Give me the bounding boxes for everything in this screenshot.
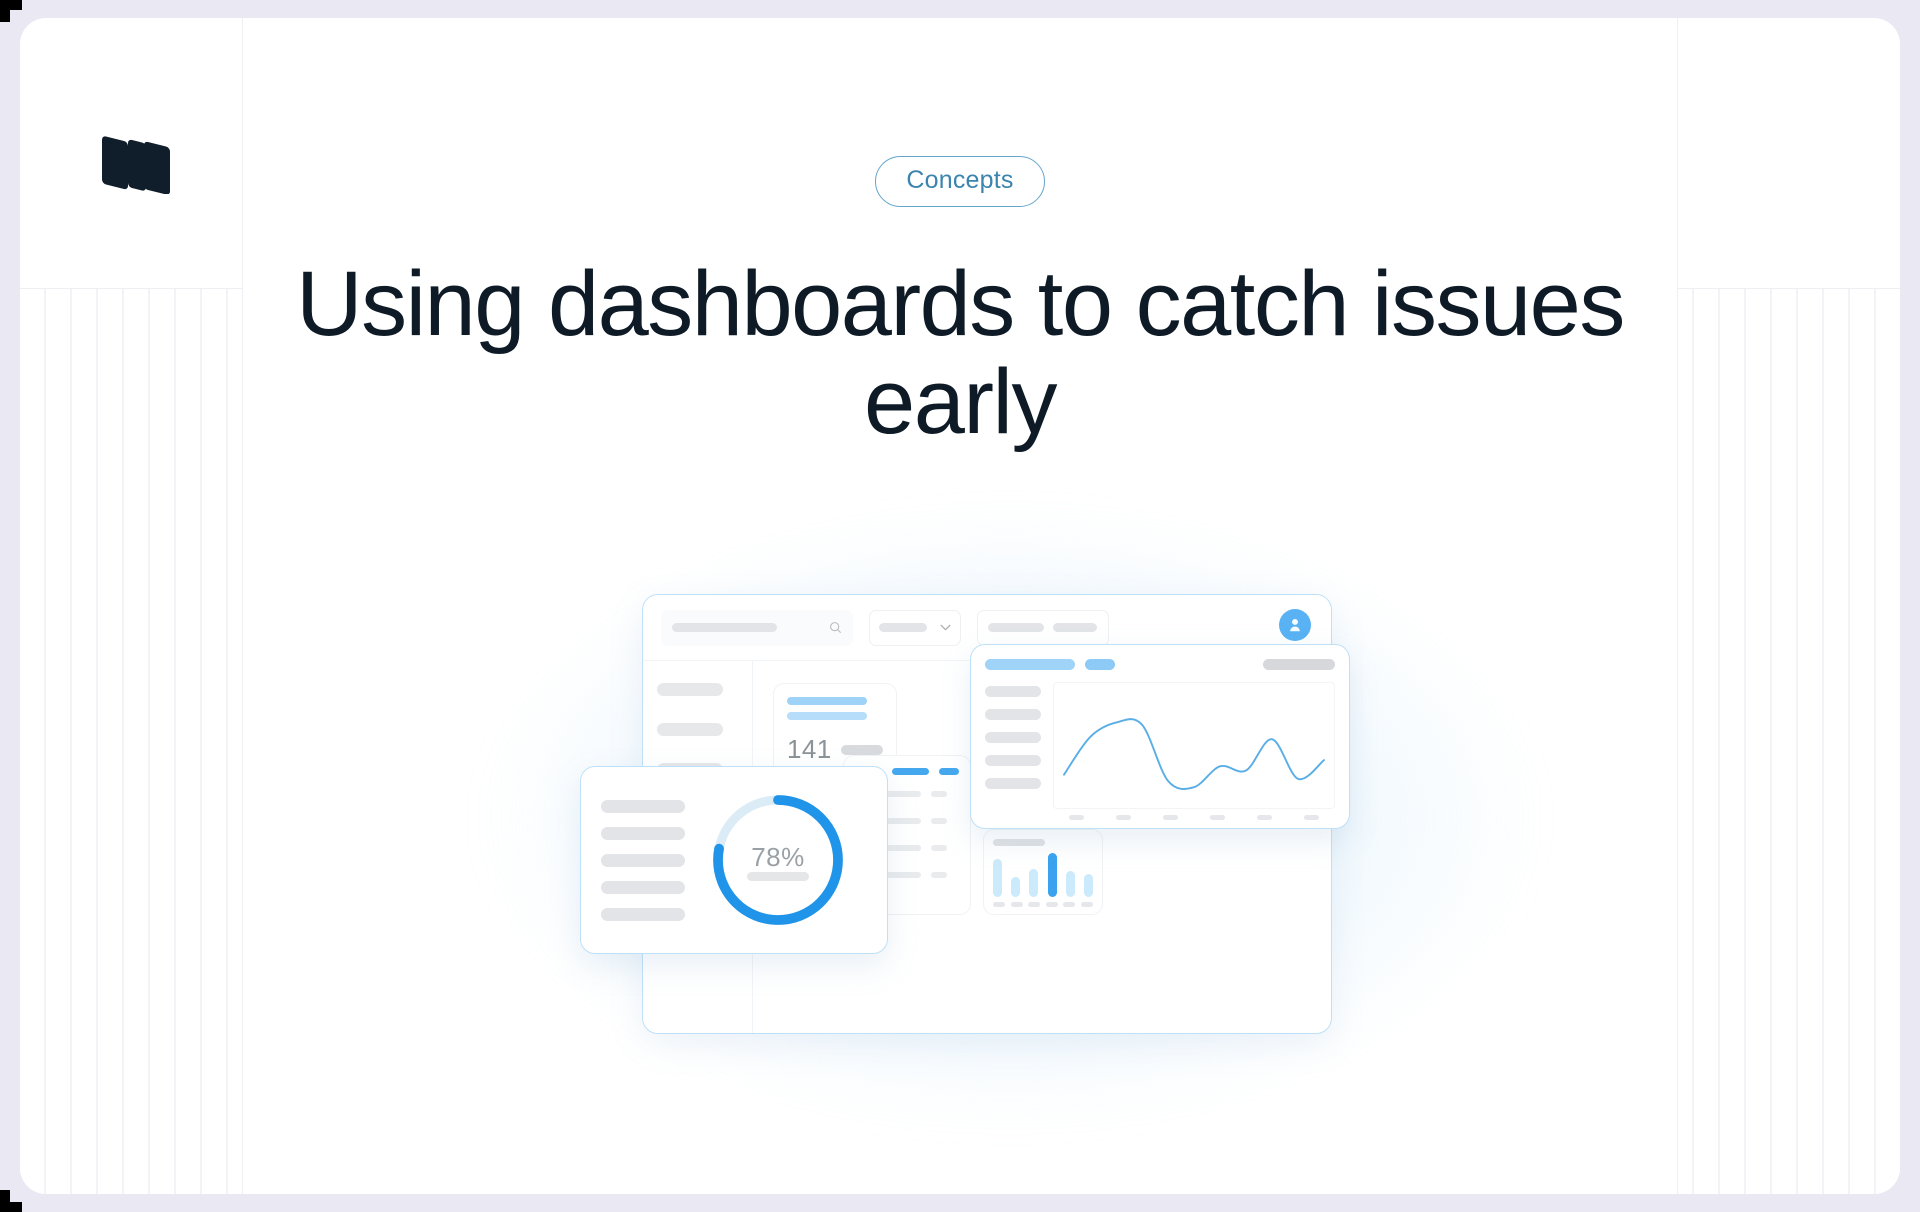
legend-row (601, 827, 685, 840)
legend-row (601, 854, 685, 867)
bar-axis-label (1063, 902, 1075, 907)
stripe-texture-right (1678, 288, 1900, 1194)
chevron-down-icon (940, 624, 951, 631)
bar (1066, 871, 1075, 897)
page-canvas: Concepts Using dashboards to catch issue… (20, 18, 1900, 1194)
bar-column (1066, 853, 1075, 897)
dropdown-value (879, 623, 927, 632)
bar-axis-label (993, 902, 1005, 907)
bar-chart-axis-labels (993, 902, 1093, 907)
bar-axis-label (1046, 902, 1058, 907)
bar-axis-label (1028, 902, 1040, 907)
line-chart-header (985, 659, 1335, 670)
bar (1084, 874, 1093, 897)
line-chart-svg (1054, 683, 1334, 808)
crop-mark-top-left-vertical (0, 0, 10, 22)
donut-center-caption (747, 872, 809, 881)
bar (993, 859, 1002, 897)
table-column-header (939, 768, 959, 775)
user-avatar-icon[interactable] (1279, 609, 1311, 641)
stripe-texture-left (20, 288, 242, 1194)
table-column-header (892, 768, 930, 775)
x-axis-tick (1069, 815, 1084, 820)
bar (1048, 853, 1057, 897)
table-cell (931, 818, 947, 824)
bar-chart-panel (983, 829, 1103, 915)
bar-column (1011, 853, 1020, 897)
bar-chart-title (993, 839, 1045, 846)
stat-label-bar (787, 697, 867, 705)
table-cell (931, 872, 947, 878)
chart-tab[interactable] (1085, 659, 1115, 670)
chart-tab-active[interactable] (985, 659, 1075, 670)
donut-legend (601, 800, 685, 921)
tag-chip (1053, 623, 1097, 632)
bar-axis-label (1081, 902, 1093, 907)
bar-axis-label (1011, 902, 1023, 907)
dashboard-illustration: 141 203 (580, 538, 1440, 1098)
donut-chart-card: 78% (580, 766, 888, 954)
tag-chip (988, 623, 1044, 632)
donut-center-value: 78% (703, 842, 853, 873)
bar-chart-plot (993, 853, 1093, 897)
donut-chart: 78% (703, 785, 853, 935)
stat-trend-chip (841, 745, 883, 755)
stat-value: 141 (787, 734, 832, 765)
page-header: Concepts Using dashboards to catch issue… (242, 18, 1678, 452)
x-axis-tick (1210, 815, 1225, 820)
legend-row (985, 755, 1041, 766)
line-chart-x-axis (985, 815, 1335, 820)
legend-row (985, 686, 1041, 697)
legend-row (601, 908, 685, 921)
bar-column (1048, 853, 1057, 897)
bar (1029, 869, 1038, 897)
table-cell (931, 791, 947, 797)
legend-row (601, 800, 685, 813)
category-badge[interactable]: Concepts (875, 156, 1044, 207)
chart-action-bar[interactable] (1263, 659, 1335, 670)
sidebar-item[interactable] (657, 683, 723, 696)
sidebar-item[interactable] (657, 723, 723, 736)
line-chart-card (970, 644, 1350, 829)
bar-column (1029, 853, 1038, 897)
x-axis-tick (1304, 815, 1319, 820)
legend-row (601, 881, 685, 894)
legend-row (985, 778, 1041, 789)
stat-sublabel-bar (787, 712, 867, 720)
x-axis-tick (1116, 815, 1131, 820)
bar-column (993, 853, 1002, 897)
search-input[interactable] (661, 610, 853, 646)
search-icon (829, 621, 842, 634)
table-cell (931, 845, 947, 851)
line-chart-legend (985, 682, 1041, 809)
bar-column (1084, 853, 1093, 897)
line-chart-plot (1053, 682, 1335, 809)
brand-logo-icon[interactable] (88, 130, 188, 194)
legend-row (985, 732, 1041, 743)
search-placeholder (672, 623, 777, 632)
legend-row (985, 709, 1041, 720)
frame-divider-top-left (20, 288, 243, 289)
bar (1011, 877, 1020, 897)
crop-mark-bottom-left-vertical (0, 1190, 10, 1212)
filter-dropdown[interactable] (869, 610, 961, 646)
line-chart-body (985, 682, 1335, 809)
frame-divider-top-right (1677, 288, 1900, 289)
page-title: Using dashboards to catch issues early (242, 255, 1678, 452)
x-axis-tick (1257, 815, 1272, 820)
tag-field[interactable] (977, 610, 1109, 646)
x-axis-tick (1163, 815, 1178, 820)
